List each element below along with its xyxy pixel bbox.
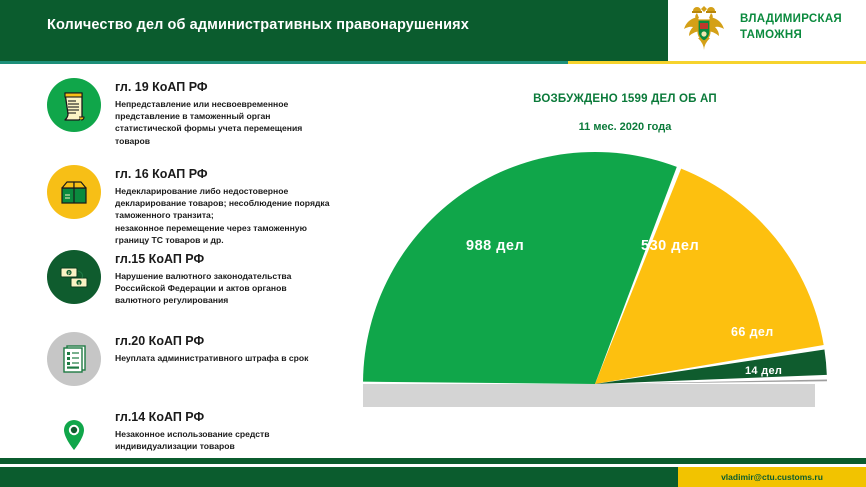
- legend-item-text: гл.14 КоАП РФ Незаконное использование с…: [115, 408, 330, 452]
- legend-item-text: гл. 19 КоАП РФ Непредставление или несво…: [115, 78, 330, 147]
- semicircle-pie-chart: [340, 140, 866, 420]
- banknotes-icon: P $: [47, 250, 101, 304]
- logo-text: ВЛАДИМИРСКАЯ ТАМОЖНЯ: [740, 12, 842, 43]
- legend-item-title: гл.15 КоАП РФ: [115, 252, 330, 266]
- footer-top-rule: [0, 458, 866, 464]
- legend-item-desc: Нарушение валютного законодательства Рос…: [115, 270, 330, 307]
- header-accent-bar: [0, 56, 866, 65]
- scroll-document-icon: [47, 78, 101, 132]
- legend-item-text: гл. 16 КоАП РФ Недекларирование либо нед…: [115, 165, 330, 246]
- logo-text-line1: ВЛАДИМИРСКАЯ: [740, 12, 842, 28]
- legend-item-ch14[interactable]: гл.14 КоАП РФ Незаконное использование с…: [47, 408, 330, 462]
- slice-label-ch16: 530 дел: [641, 238, 699, 254]
- chart-title: ВОЗБУЖДЕНО 1599 ДЕЛ ОБ АП: [460, 93, 790, 105]
- footer-email[interactable]: vladimir@ctu.customs.ru: [678, 467, 866, 487]
- pie-svg: [340, 140, 866, 420]
- legend-item-desc: Непредставление или несвоевременное пред…: [115, 98, 330, 147]
- accent-yellow-segment: [568, 61, 866, 64]
- slice-label-ch15: 66 дел: [731, 325, 774, 339]
- legend-item-title: гл.14 КоАП РФ: [115, 410, 330, 424]
- legend-item-ch15[interactable]: P $ гл.15 КоАП РФ Нарушение валютного за…: [47, 250, 330, 307]
- russian-double-headed-eagle-emblem: [678, 2, 730, 54]
- legend-item-desc: Незаконное использование средств индивид…: [115, 428, 330, 452]
- open-box-icon: [47, 165, 101, 219]
- logo-panel: ВЛАДИМИРСКАЯ ТАМОЖНЯ: [668, 0, 866, 56]
- legend-item-ch19[interactable]: гл. 19 КоАП РФ Непредставление или несво…: [47, 78, 330, 147]
- map-pin-icon: [47, 408, 101, 462]
- legend-item-text: гл.15 КоАП РФ Нарушение валютного законо…: [115, 250, 330, 307]
- legend-item-ch16[interactable]: гл. 16 КоАП РФ Недекларирование либо нед…: [47, 165, 330, 246]
- page-title: Количество дел об административных право…: [47, 17, 469, 33]
- svg-text:P: P: [68, 271, 71, 277]
- slice-label-ch20: 14 дел: [745, 365, 782, 377]
- legend-list: гл. 19 КоАП РФ Непредставление или несво…: [0, 70, 350, 450]
- chart-subtitle: 11 мес. 2020 года: [460, 121, 790, 133]
- logo-text-line2: ТАМОЖНЯ: [740, 28, 842, 44]
- legend-item-title: гл.20 КоАП РФ: [115, 334, 308, 348]
- legend-item-text: гл.20 КоАП РФ Неуплата административного…: [115, 332, 308, 364]
- legend-item-ch20[interactable]: гл.20 КоАП РФ Неуплата административного…: [47, 332, 308, 386]
- document-stack-icon: [47, 332, 101, 386]
- legend-item-title: гл. 16 КоАП РФ: [115, 167, 330, 181]
- accent-teal-segment: [0, 61, 568, 64]
- legend-item-desc: Недекларирование либо недостоверное декл…: [115, 185, 330, 246]
- slice-label-ch19: 988 дел: [466, 238, 524, 254]
- legend-item-desc: Неуплата административного штрафа в срок: [115, 352, 308, 364]
- legend-item-title: гл. 19 КоАП РФ: [115, 80, 330, 94]
- svg-text:$: $: [78, 281, 81, 287]
